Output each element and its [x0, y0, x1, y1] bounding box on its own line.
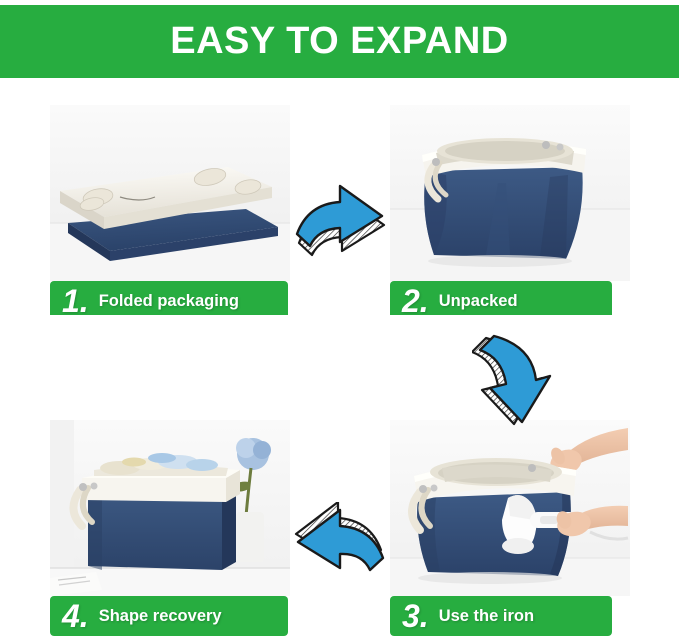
step-2-photo	[390, 105, 630, 281]
step-4-number: 4.	[62, 600, 89, 632]
curved-arrow-down-icon	[472, 332, 554, 428]
page-title: EASY TO EXPAND	[170, 20, 509, 63]
curved-arrow-left-icon	[288, 502, 388, 588]
iron-basket-illustration	[390, 420, 630, 596]
step-3-photo	[390, 420, 630, 596]
step-3-label: Use the iron	[439, 607, 534, 626]
step-4-caption: 4. Shape recovery	[50, 596, 288, 636]
folded-basket-illustration	[50, 105, 290, 281]
step-1-photo	[50, 105, 290, 281]
step-panel-2: 2. Unpacked	[390, 105, 630, 315]
step-1-caption: 1. Folded packaging	[50, 281, 288, 315]
step-1-label: Folded packaging	[99, 292, 239, 311]
shape-recovery-basket-illustration	[50, 420, 290, 596]
step-1-number: 1.	[62, 285, 89, 315]
step-panel-4: 4. Shape recovery	[50, 420, 290, 641]
step-4-photo	[50, 420, 290, 596]
step-2-caption: 2. Unpacked	[390, 281, 612, 315]
step-2-label: Unpacked	[439, 292, 518, 311]
curved-arrow-right-icon	[292, 176, 388, 264]
step-4-label: Shape recovery	[99, 607, 222, 626]
step-panel-1: 1. Folded packaging	[50, 105, 290, 315]
unpacked-basket-illustration	[390, 105, 630, 281]
step-3-number: 3.	[402, 600, 429, 632]
step-3-caption: 3. Use the iron	[390, 596, 612, 636]
step-2-number: 2.	[402, 285, 429, 315]
step-panel-3: 3. Use the iron	[390, 420, 630, 641]
header-banner: EASY TO EXPAND	[0, 5, 679, 78]
